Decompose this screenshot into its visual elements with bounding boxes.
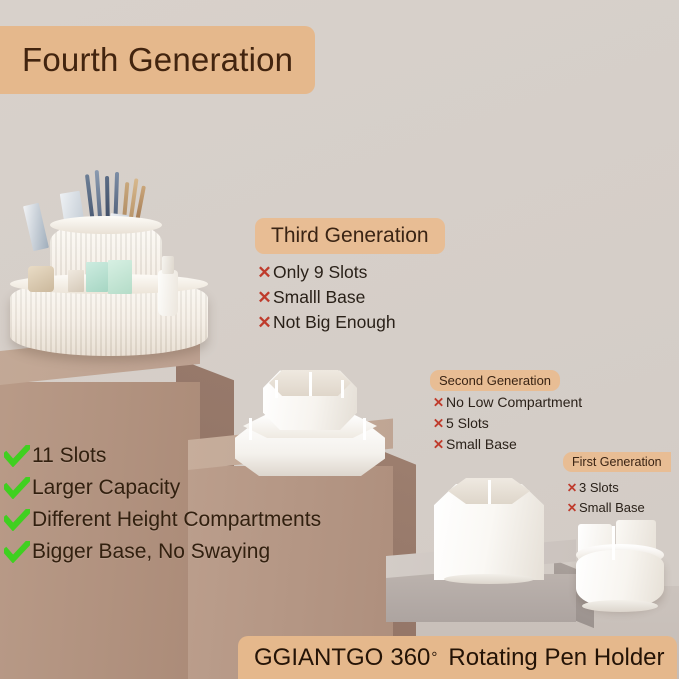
- cross-icon: ✕: [431, 414, 446, 434]
- bottle-cap-icon: [162, 256, 174, 274]
- con-item-label: No Low Compartment: [446, 392, 582, 412]
- gen3-divider: [249, 418, 252, 440]
- pro-item-label: Different Height Compartments: [32, 504, 321, 536]
- tape-roll-icon: [28, 266, 54, 292]
- gen3-divider: [309, 372, 312, 396]
- con-item: ✕ Not Big Enough: [256, 310, 396, 335]
- con-item-label: 3 Slots: [579, 478, 619, 497]
- pros-list-gen4: 11 Slots Larger Capacity Different Heigh…: [4, 440, 321, 568]
- con-item: ✕ Small Base: [431, 434, 582, 455]
- bottle-icon: [158, 270, 178, 316]
- headline-banner-label: Fourth Generation: [22, 41, 293, 79]
- notebook-icon: [23, 203, 49, 251]
- pro-item-label: Larger Capacity: [32, 472, 180, 504]
- pro-item: 11 Slots: [4, 440, 321, 472]
- sticky-note-icon: [86, 262, 108, 292]
- check-icon: [4, 445, 30, 467]
- con-item: ✕ No Low Compartment: [431, 392, 582, 413]
- cross-icon: ✕: [256, 285, 273, 310]
- badge-gen2-label: Second Generation: [439, 373, 551, 388]
- degree-icon: °: [431, 649, 437, 666]
- con-item: ✕ Smalll Base: [256, 285, 396, 310]
- gen1-divider: [612, 526, 615, 560]
- pro-item: Larger Capacity: [4, 472, 321, 504]
- footer-banner: GGIANTGO 360 ° Rotating Pen Holder: [238, 636, 677, 679]
- check-icon: [4, 541, 30, 563]
- footer-brand: GGIANTGO: [254, 644, 383, 672]
- gen2-foot: [444, 574, 534, 584]
- con-item-label: Small Base: [579, 498, 645, 517]
- pro-item-label: Bigger Base, No Swaying: [32, 536, 270, 568]
- cons-list-gen1: ✕ 3 Slots ✕ Small Base: [565, 478, 645, 518]
- footer-product: Rotating Pen Holder: [448, 644, 664, 672]
- gen3-divider: [363, 418, 366, 440]
- con-item: ✕ Small Base: [565, 498, 645, 518]
- pro-item: Different Height Compartments: [4, 504, 321, 536]
- cross-icon: ✕: [256, 310, 273, 335]
- badge-gen1: First Generation: [563, 452, 671, 472]
- product-comparison-poster: Fourth Generation 11 Slots Larger Capaci…: [0, 0, 679, 679]
- gen3-divider: [275, 380, 278, 398]
- cross-icon: ✕: [565, 499, 579, 518]
- gen3-divider: [341, 380, 344, 398]
- con-item: ✕ 5 Slots: [431, 413, 582, 434]
- con-item: ✕ Only 9 Slots: [256, 260, 396, 285]
- product-image-gen2: [430, 470, 548, 590]
- con-item-label: 5 Slots: [446, 413, 489, 433]
- product-image-gen1: [572, 520, 668, 616]
- upper-tier-rim: [50, 216, 162, 234]
- pro-item-label: 11 Slots: [32, 440, 106, 472]
- eraser-icon: [68, 270, 84, 292]
- cross-icon: ✕: [565, 479, 579, 498]
- badge-gen1-label: First Generation: [572, 455, 662, 469]
- pro-item: Bigger Base, No Swaying: [4, 536, 321, 568]
- cross-icon: ✕: [431, 393, 446, 413]
- cons-list-gen2: ✕ No Low Compartment ✕ 5 Slots ✕ Small B…: [431, 392, 582, 455]
- badge-gen3: Third Generation: [255, 218, 445, 254]
- con-item-label: Only 9 Slots: [273, 260, 367, 285]
- sticky-note-icon: [108, 260, 132, 294]
- gen2-divider: [488, 480, 491, 504]
- cons-list-gen3: ✕ Only 9 Slots ✕ Smalll Base ✕ Not Big E…: [256, 260, 396, 335]
- con-item-label: Smalll Base: [273, 285, 365, 310]
- footer-rotation: 360: [390, 644, 430, 672]
- badge-gen3-label: Third Generation: [271, 224, 429, 248]
- con-item-label: Small Base: [446, 434, 517, 454]
- con-item: ✕ 3 Slots: [565, 478, 645, 498]
- check-icon: [4, 477, 30, 499]
- headline-banner: Fourth Generation: [0, 26, 315, 94]
- check-icon: [4, 509, 30, 531]
- gen1-foot: [582, 600, 658, 612]
- con-item-label: Not Big Enough: [273, 310, 396, 335]
- badge-gen2: Second Generation: [430, 370, 560, 391]
- cross-icon: ✕: [431, 435, 446, 455]
- cross-icon: ✕: [256, 260, 273, 285]
- product-image-gen4: [8, 170, 213, 375]
